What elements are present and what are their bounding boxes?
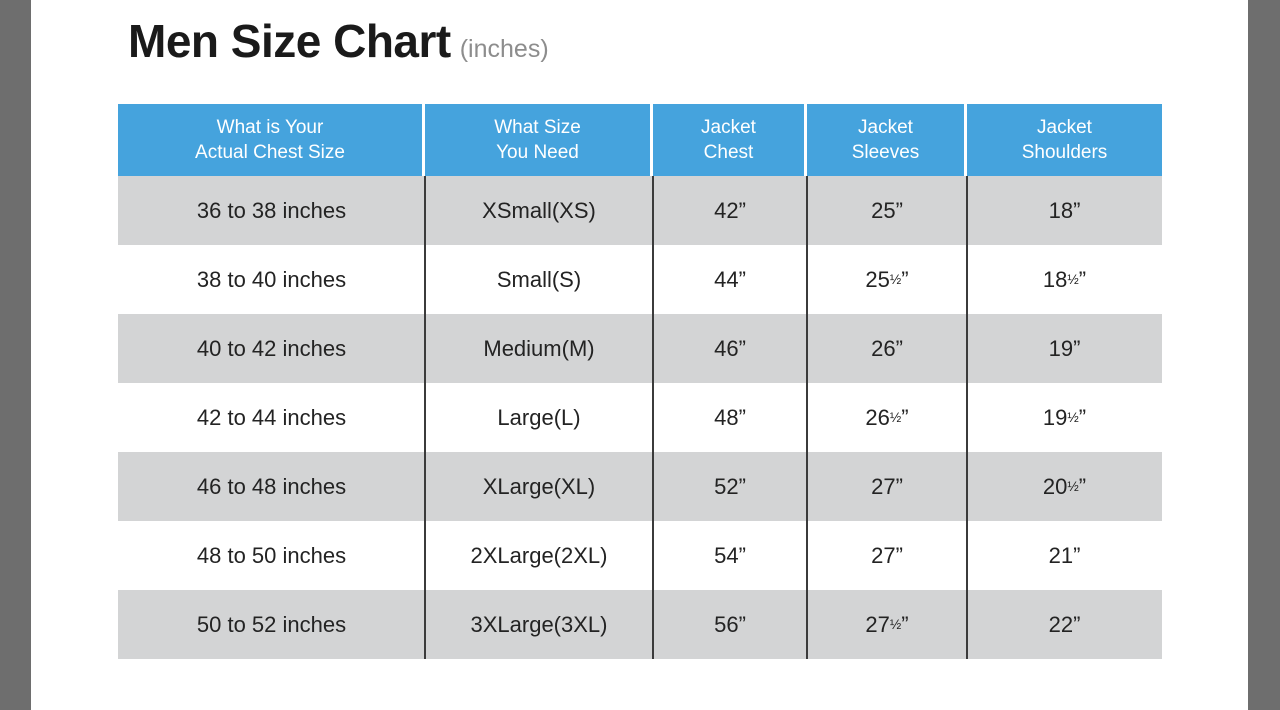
table-row: 48 to 50 inches 2XLarge(2XL) 54” 27” 21” xyxy=(118,521,1162,590)
cell-jacket-chest: 54” xyxy=(653,521,807,590)
table-row: 42 to 44 inches Large(L) 48” 26½” 19½” xyxy=(118,383,1162,452)
page-title-unit: (inches) xyxy=(460,37,549,62)
cell-jacket-sleeves: 27” xyxy=(807,452,967,521)
column-header-line2: Shoulders xyxy=(1022,140,1108,165)
cell-actual-chest-size: 42 to 44 inches xyxy=(118,383,425,452)
column-header-line1: Jacket xyxy=(1037,115,1092,140)
column-header-line2: Actual Chest Size xyxy=(195,140,345,165)
cell-jacket-sleeves: 26” xyxy=(807,314,967,383)
cell-actual-chest-size: 38 to 40 inches xyxy=(118,245,425,314)
page-title: Men Size Chart (inches) xyxy=(128,18,549,64)
cell-size-needed: XSmall(XS) xyxy=(425,176,653,245)
cell-actual-chest-size: 48 to 50 inches xyxy=(118,521,425,590)
column-header-size-needed: What Size You Need xyxy=(425,104,653,176)
cell-jacket-sleeves: 25½” xyxy=(807,245,967,314)
cell-jacket-chest: 52” xyxy=(653,452,807,521)
cell-size-needed: XLarge(XL) xyxy=(425,452,653,521)
cell-actual-chest-size: 36 to 38 inches xyxy=(118,176,425,245)
cell-size-needed: Large(L) xyxy=(425,383,653,452)
cell-size-needed: Small(S) xyxy=(425,245,653,314)
column-header-jacket-shoulders: Jacket Shoulders xyxy=(967,104,1162,176)
cell-jacket-shoulders: 18½” xyxy=(967,245,1162,314)
cell-size-needed: 2XLarge(2XL) xyxy=(425,521,653,590)
slide-page: Men Size Chart (inches) What is Your Act… xyxy=(31,0,1248,710)
table-header-row: What is Your Actual Chest Size What Size… xyxy=(118,104,1162,176)
cell-jacket-sleeves: 27” xyxy=(807,521,967,590)
column-header-line2: Chest xyxy=(704,140,754,165)
cell-jacket-chest: 44” xyxy=(653,245,807,314)
cell-size-needed: 3XLarge(3XL) xyxy=(425,590,653,659)
cell-actual-chest-size: 40 to 42 inches xyxy=(118,314,425,383)
cell-jacket-sleeves: 26½” xyxy=(807,383,967,452)
column-header-line1: Jacket xyxy=(701,115,756,140)
cell-jacket-chest: 46” xyxy=(653,314,807,383)
cell-jacket-shoulders: 19½” xyxy=(967,383,1162,452)
cell-actual-chest-size: 46 to 48 inches xyxy=(118,452,425,521)
column-header-jacket-chest: Jacket Chest xyxy=(653,104,807,176)
cell-jacket-shoulders: 20½” xyxy=(967,452,1162,521)
cell-jacket-shoulders: 22” xyxy=(967,590,1162,659)
table-row: 50 to 52 inches 3XLarge(3XL) 56” 27½” 22… xyxy=(118,590,1162,659)
table-row: 40 to 42 inches Medium(M) 46” 26” 19” xyxy=(118,314,1162,383)
cell-jacket-chest: 48” xyxy=(653,383,807,452)
cell-actual-chest-size: 50 to 52 inches xyxy=(118,590,425,659)
column-header-jacket-sleeves: Jacket Sleeves xyxy=(807,104,967,176)
cell-jacket-shoulders: 21” xyxy=(967,521,1162,590)
cell-size-needed: Medium(M) xyxy=(425,314,653,383)
cell-jacket-chest: 56” xyxy=(653,590,807,659)
column-header-line1: Jacket xyxy=(858,115,913,140)
backdrop-right-band xyxy=(1248,0,1280,710)
size-chart-table: What is Your Actual Chest Size What Size… xyxy=(118,104,1162,659)
column-header-actual-chest-size: What is Your Actual Chest Size xyxy=(118,104,425,176)
cell-jacket-sleeves: 27½” xyxy=(807,590,967,659)
cell-jacket-shoulders: 18” xyxy=(967,176,1162,245)
backdrop-left-band xyxy=(0,0,31,710)
column-header-line2: Sleeves xyxy=(852,140,920,165)
cell-jacket-chest: 42” xyxy=(653,176,807,245)
table-row: 38 to 40 inches Small(S) 44” 25½” 18½” xyxy=(118,245,1162,314)
page-title-main: Men Size Chart xyxy=(128,18,451,64)
cell-jacket-sleeves: 25” xyxy=(807,176,967,245)
cell-jacket-shoulders: 19” xyxy=(967,314,1162,383)
column-header-line1: What is Your xyxy=(217,115,324,140)
column-header-line2: You Need xyxy=(496,140,579,165)
table-row: 36 to 38 inches XSmall(XS) 42” 25” 18” xyxy=(118,176,1162,245)
column-header-line1: What Size xyxy=(494,115,581,140)
table-row: 46 to 48 inches XLarge(XL) 52” 27” 20½” xyxy=(118,452,1162,521)
